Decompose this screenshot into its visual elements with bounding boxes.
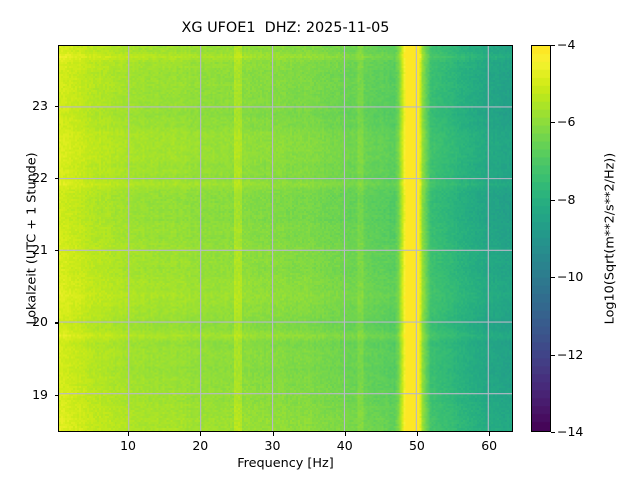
x-tick-mark [417,432,418,436]
colorbar-tick-mark [551,122,555,123]
colorbar[interactable] [531,45,551,432]
colorbar-tick-mark [551,45,555,46]
colorbar-tick-mark [551,432,555,433]
colorbar-tick-label: −14 [557,424,583,439]
colorbar-tick-label: −10 [557,269,583,284]
colorbar-tick-label: −12 [557,347,583,362]
colorbar-tick-mark [551,277,555,278]
x-axis-label: Frequency [Hz] [58,456,513,471]
spectrogram-axes[interactable] [58,45,513,432]
x-tick-mark [200,432,201,436]
x-tick-label: 40 [325,438,365,453]
matplotlib-figure: XG UFOE1 DHZ: 2025-11-05 102030405060 19… [0,0,640,480]
y-tick-mark [55,395,59,396]
page-title: XG UFOE1 DHZ: 2025-11-05 [0,20,571,36]
colorbar-tick-mark [551,355,555,356]
x-tick-label: 50 [397,438,437,453]
colorbar-tick-label: −8 [557,192,575,207]
y-tick-mark [55,106,59,107]
x-tick-mark [273,432,274,436]
colorbar-tick-label: −4 [557,37,575,52]
x-tick-label: 30 [253,438,293,453]
x-tick-label: 20 [180,438,220,453]
y-tick-mark [55,250,59,251]
colorbar-tick-label: −6 [557,114,575,129]
y-tick-mark [55,322,59,323]
axes-gridlines [59,46,512,431]
x-tick-mark [489,432,490,436]
x-tick-label: 60 [469,438,509,453]
colorbar-tick-mark [551,200,555,201]
x-tick-mark [128,432,129,436]
colorbar-gradient [532,46,550,431]
x-tick-label: 10 [108,438,148,453]
x-tick-mark [345,432,346,436]
colorbar-label: Log10(Sqrt(m**2/s**2/Hz)) [603,44,618,434]
y-axis-label: Lokalzeit (UTC + 1 Stunde) [25,44,40,434]
y-tick-mark [55,178,59,179]
